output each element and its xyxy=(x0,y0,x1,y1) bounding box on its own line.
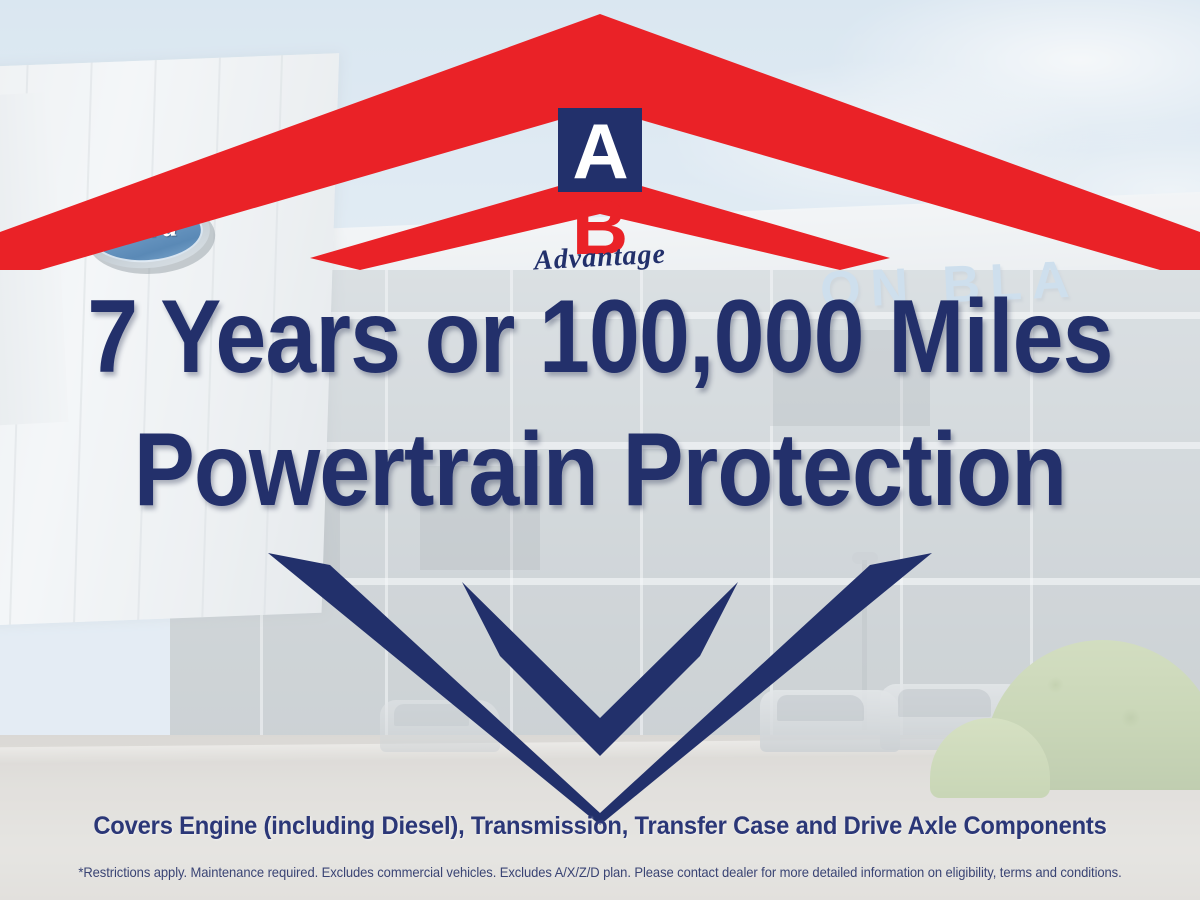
advertisement-canvas: ON BLA Ford A B Advantage 7 Years or 100… xyxy=(0,0,1200,900)
coverage-components-line: Covers Engine (including Diesel), Transm… xyxy=(30,812,1170,841)
navy-chevron-inner xyxy=(0,560,1200,760)
headline-line-2: Powertrain Protection xyxy=(72,418,1128,522)
legal-disclaimer: *Restrictions apply. Maintenance require… xyxy=(42,864,1158,880)
logo-letter-a-box: A xyxy=(558,108,641,192)
logo-letter-a: A xyxy=(572,112,627,190)
headline-line-1: 7 Years or 100,000 Miles xyxy=(72,285,1128,389)
ab-advantage-logo: A B Advantage xyxy=(0,108,1200,192)
